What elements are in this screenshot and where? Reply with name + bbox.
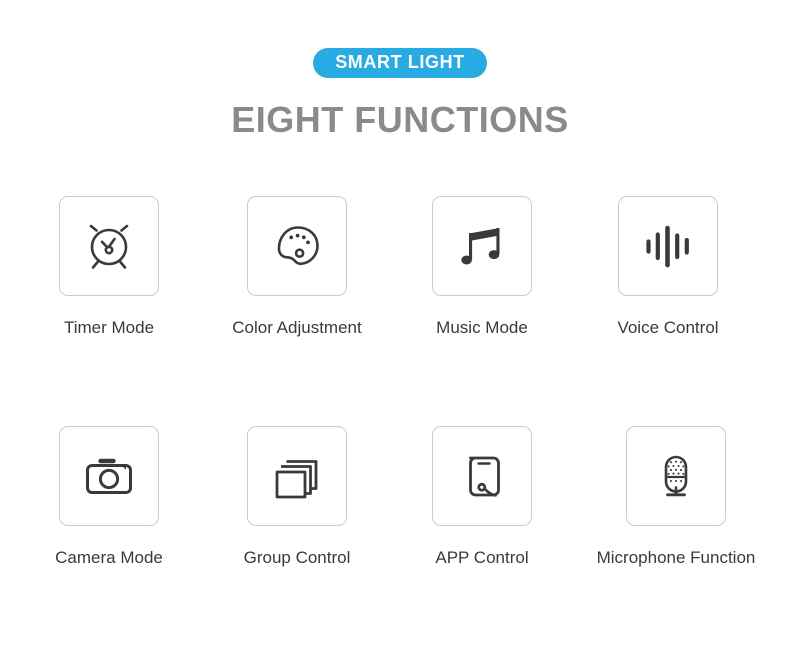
icon-box-voice-control bbox=[618, 196, 718, 296]
icon-box-music-mode bbox=[432, 196, 532, 296]
feature-item-microphone-function: Microphone Function bbox=[576, 426, 776, 568]
feature-row-2: Camera Mode Group Control bbox=[0, 426, 800, 656]
feature-item-app-control: APP Control bbox=[382, 426, 582, 568]
feature-item-voice-control: Voice Control bbox=[568, 196, 768, 338]
feature-item-camera-mode: Camera Mode bbox=[9, 426, 209, 568]
feature-label-group-control: Group Control bbox=[197, 548, 397, 568]
smart-light-badge: SMART LIGHT bbox=[313, 48, 487, 78]
feature-item-group-control: Group Control bbox=[197, 426, 397, 568]
badge-row: SMART LIGHT bbox=[0, 48, 800, 78]
icon-box-group-control bbox=[247, 426, 347, 526]
icon-box-microphone-function bbox=[626, 426, 726, 526]
page-title: EIGHT FUNCTIONS bbox=[0, 100, 800, 140]
microphone-icon bbox=[648, 448, 704, 504]
feature-item-music-mode: Music Mode bbox=[382, 196, 582, 338]
feature-item-timer-mode: Timer Mode bbox=[9, 196, 209, 338]
feature-label-timer-mode: Timer Mode bbox=[9, 318, 209, 338]
smartphone-icon bbox=[453, 447, 511, 505]
feature-label-music-mode: Music Mode bbox=[382, 318, 582, 338]
feature-label-app-control: APP Control bbox=[382, 548, 582, 568]
feature-label-microphone-function: Microphone Function bbox=[576, 548, 776, 568]
poster-header: SMART LIGHT EIGHT FUNCTIONS bbox=[0, 0, 800, 140]
icon-box-timer-mode bbox=[59, 196, 159, 296]
feature-grid: Timer Mode Col bbox=[0, 196, 800, 656]
sound-wave-icon bbox=[640, 218, 696, 274]
color-palette-icon bbox=[268, 217, 326, 275]
feature-label-camera-mode: Camera Mode bbox=[9, 548, 209, 568]
camera-icon bbox=[80, 447, 138, 505]
stacked-squares-icon bbox=[269, 448, 325, 504]
feature-label-color-adjustment: Color Adjustment bbox=[197, 318, 397, 338]
feature-label-voice-control: Voice Control bbox=[568, 318, 768, 338]
smart-light-feature-poster: SMART LIGHT EIGHT FUNCTIONS bbox=[0, 0, 800, 629]
icon-box-camera-mode bbox=[59, 426, 159, 526]
icon-box-color-adjustment bbox=[247, 196, 347, 296]
feature-row-1: Timer Mode Col bbox=[0, 196, 800, 426]
music-note-icon bbox=[454, 218, 510, 274]
feature-item-color-adjustment: Color Adjustment bbox=[197, 196, 397, 338]
icon-box-app-control bbox=[432, 426, 532, 526]
alarm-clock-icon bbox=[80, 217, 138, 275]
